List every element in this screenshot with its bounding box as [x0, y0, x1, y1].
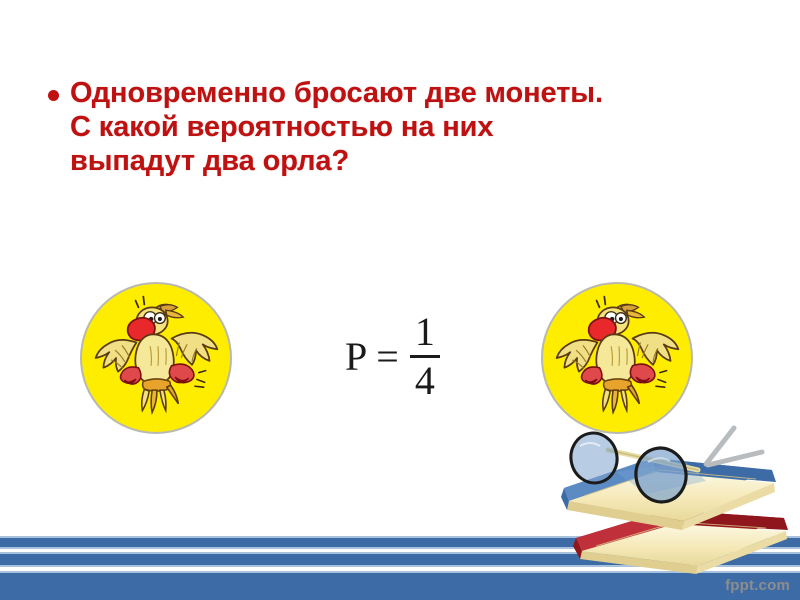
- eagle-emblem-icon: [543, 284, 691, 432]
- fraction-denominator: 4: [411, 358, 439, 401]
- coin-left: [80, 282, 232, 434]
- coin-right: [541, 282, 693, 434]
- slide-canvas: Одновременно бросают две монеты. С какой…: [0, 0, 800, 600]
- formula-lhs: P: [345, 333, 367, 380]
- books-and-glasses-illustration: [556, 418, 800, 583]
- question-text: Одновременно бросают две монеты. С какой…: [70, 76, 603, 178]
- formula-fraction: 1 4: [410, 312, 440, 401]
- formula-equals-sign: =: [376, 333, 399, 380]
- watermark-fppt: fppt.com: [725, 577, 790, 594]
- probability-formula: P = 1 4: [345, 312, 440, 401]
- books-illustration-svg: [556, 418, 800, 583]
- eagle-emblem-icon: [82, 284, 230, 432]
- bullet-point-icon: [48, 90, 59, 101]
- question-block: Одновременно бросают две монеты. С какой…: [48, 76, 728, 178]
- fraction-numerator: 1: [411, 312, 439, 355]
